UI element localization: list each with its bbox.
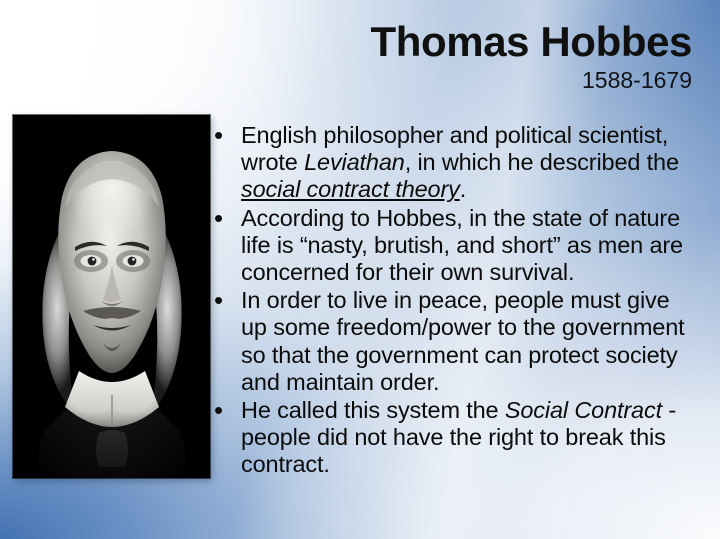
bullet-text-give-up-freedom: In order to live in peace, people must g… [241,287,696,396]
portrait-illustration [13,115,210,478]
bullet-text-state-of-nature: According to Hobbes, in the state of nat… [241,205,696,287]
bullet-marker-icon: • [212,397,241,424]
bullet-item-social-contract: • He called this system the Social Contr… [212,397,696,479]
term-social-contract-theory: social contract theory [241,176,460,202]
bullet-text-social-contract: He called this system the Social Contrac… [241,397,696,479]
bullet-item-give-up-freedom: • In order to live in peace, people must… [212,287,696,396]
bullet-list: • English philosopher and political scie… [212,122,696,480]
bullet-item-philosopher: • English philosopher and political scie… [212,122,696,204]
bullet-text-philosopher: English philosopher and political scient… [241,122,696,204]
bullet-marker-icon: • [212,205,241,232]
title-block: Thomas Hobbes 1588-1679 [240,20,692,92]
term-social-contract: Social Contract [505,397,662,423]
bullet-marker-icon: • [212,122,241,149]
portrait-image-thomas-hobbes [13,115,210,478]
page-title: Thomas Hobbes [240,20,692,64]
book-title-leviathan: Leviathan [304,149,405,175]
presentation-slide: Thomas Hobbes 1588-1679 [0,0,720,539]
page-subtitle-dates: 1588-1679 [240,68,692,92]
bullet-item-state-of-nature: • According to Hobbes, in the state of n… [212,205,696,287]
bullet-marker-icon: • [212,287,241,314]
